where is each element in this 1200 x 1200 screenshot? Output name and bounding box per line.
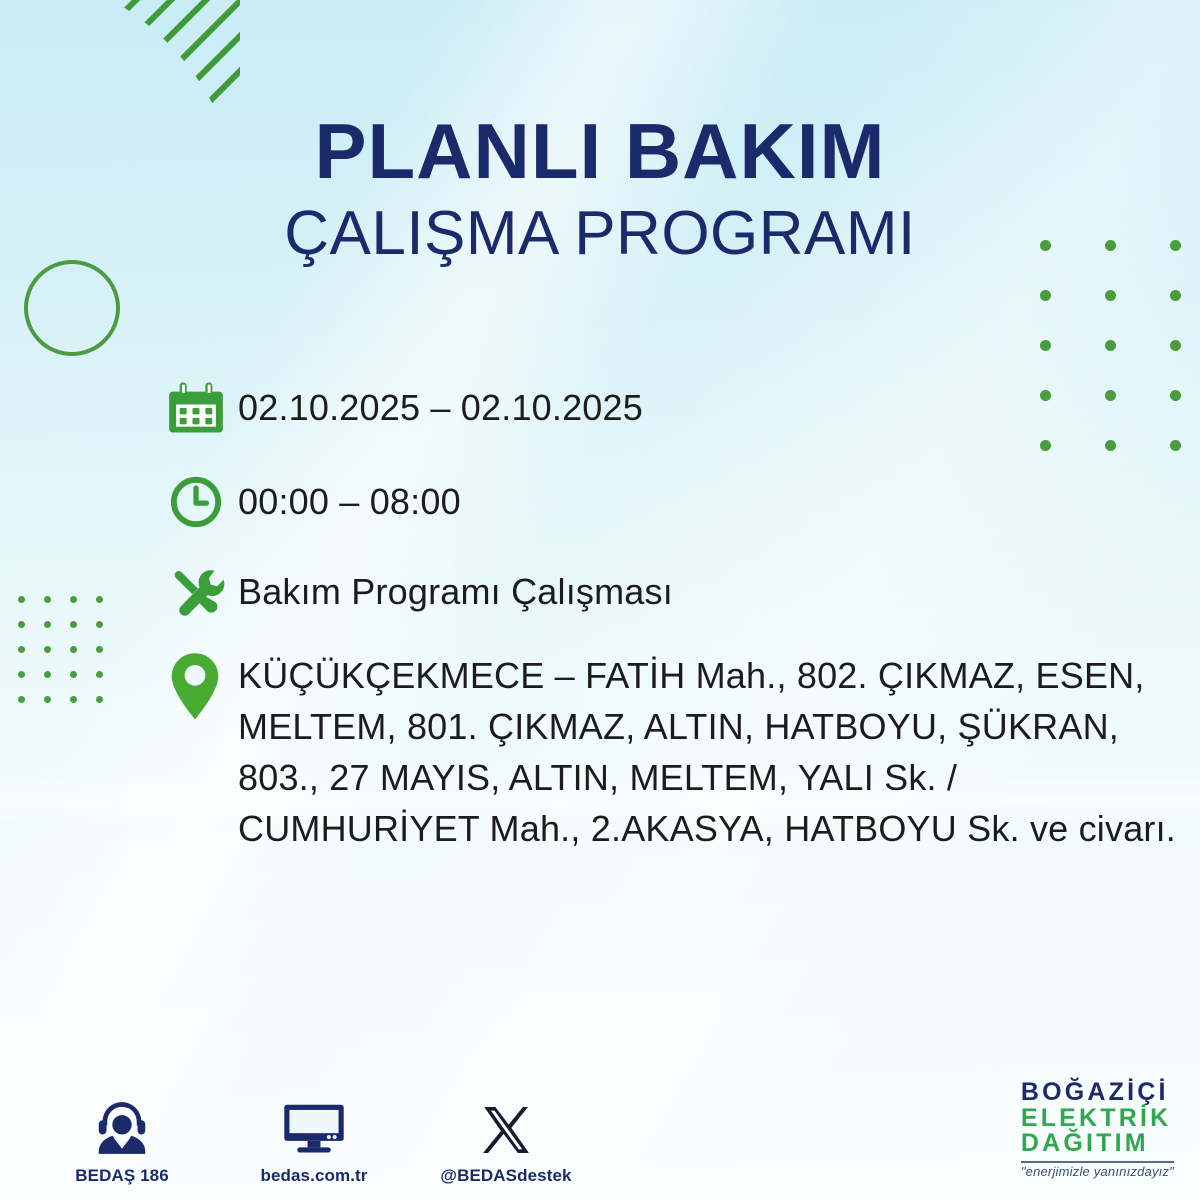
x-twitter-icon-svg xyxy=(477,1101,535,1159)
monitor-website-icon-svg xyxy=(283,1097,345,1159)
monitor-website-icon xyxy=(244,1093,384,1159)
contact-x-handle[interactable]: @BEDASdestek xyxy=(436,1093,576,1186)
headset-support-icon xyxy=(52,1093,192,1159)
location-pin-icon xyxy=(160,650,238,710)
clock-icon xyxy=(160,472,238,532)
title-main: PLANLI BAKIM xyxy=(0,112,1200,192)
contact-list: BEDAŞ 186 bedas.com.tr xyxy=(52,1093,576,1186)
calendar-icon-svg xyxy=(168,380,224,436)
circle-outline-decoration xyxy=(24,260,120,356)
tools-icon-svg xyxy=(168,563,226,621)
brand-divider xyxy=(1021,1161,1174,1163)
contact-website[interactable]: bedas.com.tr xyxy=(244,1093,384,1186)
info-value-date: 02.10.2025 – 02.10.2025 xyxy=(238,378,643,426)
calendar-icon xyxy=(160,378,238,438)
dot-grid-left-decoration xyxy=(18,596,122,721)
x-twitter-icon xyxy=(436,1093,576,1159)
info-row-time: 00:00 – 08:00 xyxy=(160,472,1190,532)
brand-line-1: BOĞAZİÇİ xyxy=(1021,1080,1174,1106)
brand-line-2: ELEKTRİK xyxy=(1021,1106,1174,1132)
contact-phone-label: BEDAŞ 186 xyxy=(52,1166,192,1186)
page-title: PLANLI BAKIM ÇALIŞMA PROGRAMI xyxy=(0,112,1200,269)
title-subtitle: ÇALIŞMA PROGRAMI xyxy=(0,198,1200,269)
contact-x-label: @BEDASdestek xyxy=(436,1166,576,1186)
contact-phone[interactable]: BEDAŞ 186 xyxy=(52,1093,192,1186)
headset-support-icon-svg xyxy=(91,1097,153,1159)
info-value-address: KÜÇÜKÇEKMECE – FATİH Mah., 802. ÇIKMAZ, … xyxy=(238,650,1190,854)
info-row-address: KÜÇÜKÇEKMECE – FATİH Mah., 802. ÇIKMAZ, … xyxy=(160,650,1190,854)
brand-tagline: "enerjimizle yanınızdayız" xyxy=(1021,1165,1174,1178)
brand-line-3: DAĞITIM xyxy=(1021,1131,1174,1157)
info-row-work-type: Bakım Programı Çalışması xyxy=(160,562,1190,622)
poster-canvas: PLANLI BAKIM ÇALIŞMA PROGRAMI xyxy=(0,0,1200,1200)
contact-website-label: bedas.com.tr xyxy=(244,1166,384,1186)
info-value-time: 00:00 – 08:00 xyxy=(238,472,461,520)
info-row-date: 02.10.2025 – 02.10.2025 xyxy=(160,378,1190,438)
brand-logo: BOĞAZİÇİ ELEKTRİK DAĞITIM "enerjimizle y… xyxy=(1021,1080,1174,1178)
info-value-work-type: Bakım Programı Çalışması xyxy=(238,562,673,610)
info-list: 02.10.2025 – 02.10.2025 00:00 – 08:00 xyxy=(160,378,1190,878)
footer: BEDAŞ 186 bedas.com.tr xyxy=(0,1040,1200,1200)
location-pin-icon-svg xyxy=(168,652,222,722)
tools-icon xyxy=(160,562,238,622)
clock-icon-svg xyxy=(168,474,224,530)
